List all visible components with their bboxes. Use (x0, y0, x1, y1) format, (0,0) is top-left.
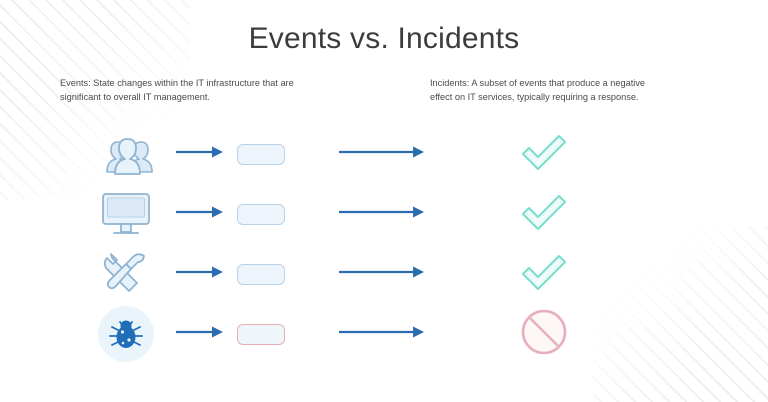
arrow-right-long-icon (339, 205, 425, 224)
short-arrow-cell (172, 244, 228, 304)
row-result-cell (506, 124, 582, 184)
arrow-right-icon (176, 205, 224, 224)
prohibited-icon (518, 306, 570, 363)
short-arrow-cell (172, 124, 228, 184)
arrow-right-long-icon (339, 145, 425, 164)
table-row (0, 184, 768, 244)
monitor-icon (100, 191, 152, 237)
event-box (228, 124, 294, 184)
short-arrow-cell (172, 304, 228, 364)
arrow-right-icon (176, 145, 224, 164)
page-title: Events vs. Incidents (0, 22, 768, 56)
bug-icon (106, 316, 146, 352)
status-box (237, 264, 285, 285)
check-icon (517, 190, 571, 239)
status-box (237, 204, 285, 225)
row-result-cell (506, 184, 582, 244)
event-box (228, 184, 294, 244)
check-icon (517, 250, 571, 299)
arrow-right-icon (176, 325, 224, 344)
row-icon-cell (90, 244, 162, 304)
table-row (0, 124, 768, 184)
check-icon (517, 130, 571, 179)
caption-events: Events: State changes within the IT infr… (60, 76, 328, 105)
long-arrow-cell (336, 184, 428, 244)
slide-canvas: Events vs. Incidents Events: State chang… (0, 0, 768, 402)
arrow-right-long-icon (339, 265, 425, 284)
status-box-danger (237, 324, 285, 345)
table-row (0, 244, 768, 304)
arrow-right-long-icon (339, 325, 425, 344)
row-result-cell (506, 304, 582, 364)
long-arrow-cell (336, 304, 428, 364)
long-arrow-cell (336, 124, 428, 184)
status-box (237, 144, 285, 165)
users-icon (97, 130, 155, 178)
caption-incidents: Incidents: A subset of events that produ… (430, 76, 665, 105)
incident-box (228, 304, 294, 364)
row-result-cell (506, 244, 582, 304)
tools-icon (100, 249, 152, 299)
row-icon-cell (90, 304, 162, 364)
bug-icon-circle (98, 306, 154, 362)
row-icon-cell (90, 184, 162, 244)
table-row (0, 304, 768, 364)
row-icon-cell (90, 124, 162, 184)
event-box (228, 244, 294, 304)
short-arrow-cell (172, 184, 228, 244)
arrow-right-icon (176, 265, 224, 284)
comparison-rows (0, 124, 768, 364)
long-arrow-cell (336, 244, 428, 304)
